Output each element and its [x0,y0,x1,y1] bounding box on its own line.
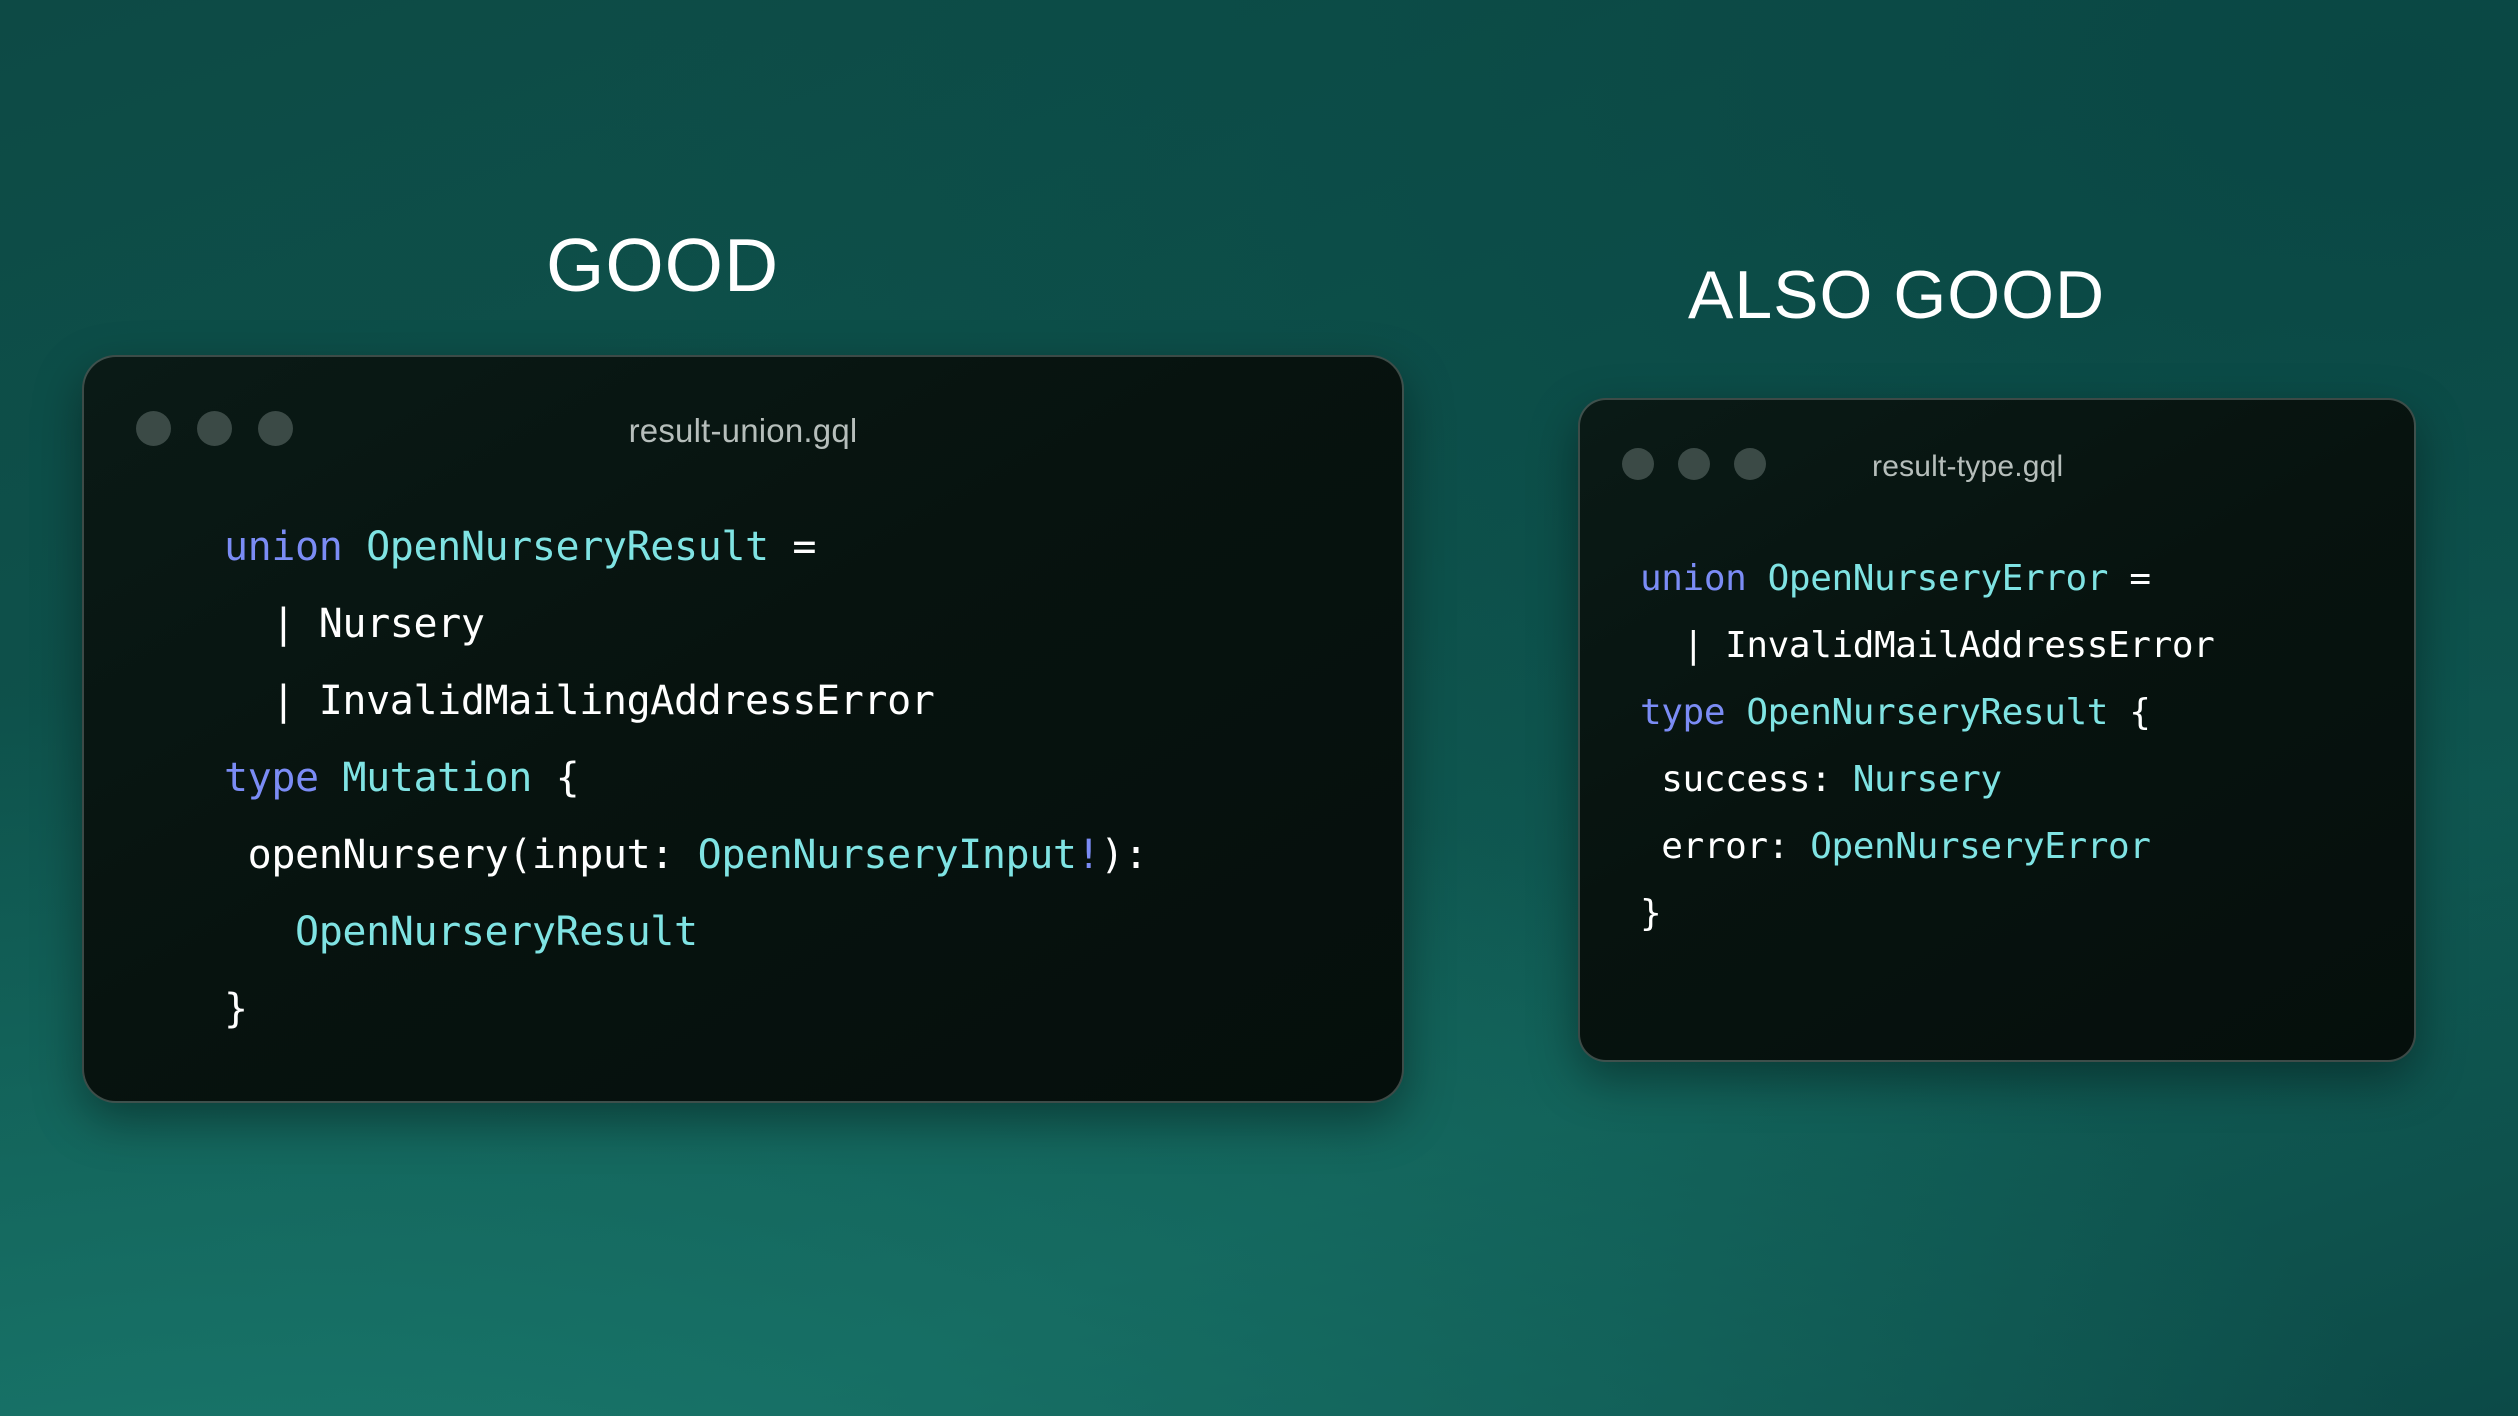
window-filename: result-type.gql [1872,450,2063,484]
code-token-plain: ): [1100,832,1147,878]
code-line: | Nursery [224,586,1148,663]
heading-good: GOOD [546,222,779,308]
code-token-error_type: InvalidMailingAddressError [319,678,935,724]
window-titlebar: result-type.gql [1580,400,2414,484]
code-token-keyword: union [1640,558,1768,599]
slide-canvas: GOOD result-union.gql union OpenNurseryR… [0,0,2518,1416]
code-token-keyword: ! [1077,832,1101,878]
window-filename: result-union.gql [84,412,1402,450]
code-token-plain: } [224,986,248,1032]
code-line: } [1640,880,2214,947]
code-token-type: Nursery [1853,759,2002,800]
window-titlebar: result-union.gql [84,357,1402,445]
window-dot-close[interactable] [1622,448,1654,480]
code-token-error_type: InvalidMailAddressError [1725,625,2214,666]
window-controls [1622,448,1766,480]
code-block-result-union: union OpenNurseryResult = | Nursery | In… [224,509,1148,1048]
code-window-result-union: result-union.gql union OpenNurseryResult… [82,355,1404,1103]
code-line: OpenNurseryResult [224,894,1148,971]
window-dot-maximize[interactable] [1734,448,1766,480]
code-line: error: OpenNurseryError [1640,813,2214,880]
code-token-type: OpenNurseryError [1810,826,2150,867]
code-token-type: OpenNurseryResult [366,524,769,570]
code-token-plain: } [1640,893,1661,934]
code-token-plain: error: [1640,826,1810,867]
code-line: type Mutation { [224,740,1148,817]
code-line: | InvalidMailAddressError [1640,612,2214,679]
window-dot-minimize[interactable] [1678,448,1710,480]
code-token-type: OpenNurseryResult [1746,692,2108,733]
heading-also-good: ALSO GOOD [1688,256,2105,334]
code-token-keyword: type [1640,692,1746,733]
code-token-plain [224,909,295,955]
code-token-plain: | [1640,625,1725,666]
code-line: | InvalidMailingAddressError [224,663,1148,740]
code-token-keyword: union [224,524,366,570]
code-token-type: OpenNurseryError [1768,558,2108,599]
code-token-plain: = [769,524,816,570]
code-token-plain: openNursery(input: [224,832,698,878]
code-token-plain: success: [1640,759,1853,800]
code-token-plain: { [2108,692,2151,733]
code-token-type: OpenNurseryInput [698,832,1077,878]
code-token-keyword: type [224,755,342,801]
code-window-result-type: result-type.gql union OpenNurseryError =… [1578,398,2416,1062]
code-line: type OpenNurseryResult { [1640,679,2214,746]
code-token-type: OpenNurseryResult [295,909,698,955]
code-line: } [224,971,1148,1048]
code-line: openNursery(input: OpenNurseryInput!): [224,817,1148,894]
code-token-plain: | [224,601,319,647]
code-token-plain: = [2108,558,2151,599]
code-line: union OpenNurseryResult = [224,509,1148,586]
code-token-plain: { [532,755,579,801]
code-token-plain: | [224,678,319,724]
code-token-error_type: Nursery [319,601,485,647]
code-line: success: Nursery [1640,746,2214,813]
code-line: union OpenNurseryError = [1640,545,2214,612]
code-block-result-type: union OpenNurseryError = | InvalidMailAd… [1640,545,2214,947]
code-token-type: Mutation [342,755,531,801]
